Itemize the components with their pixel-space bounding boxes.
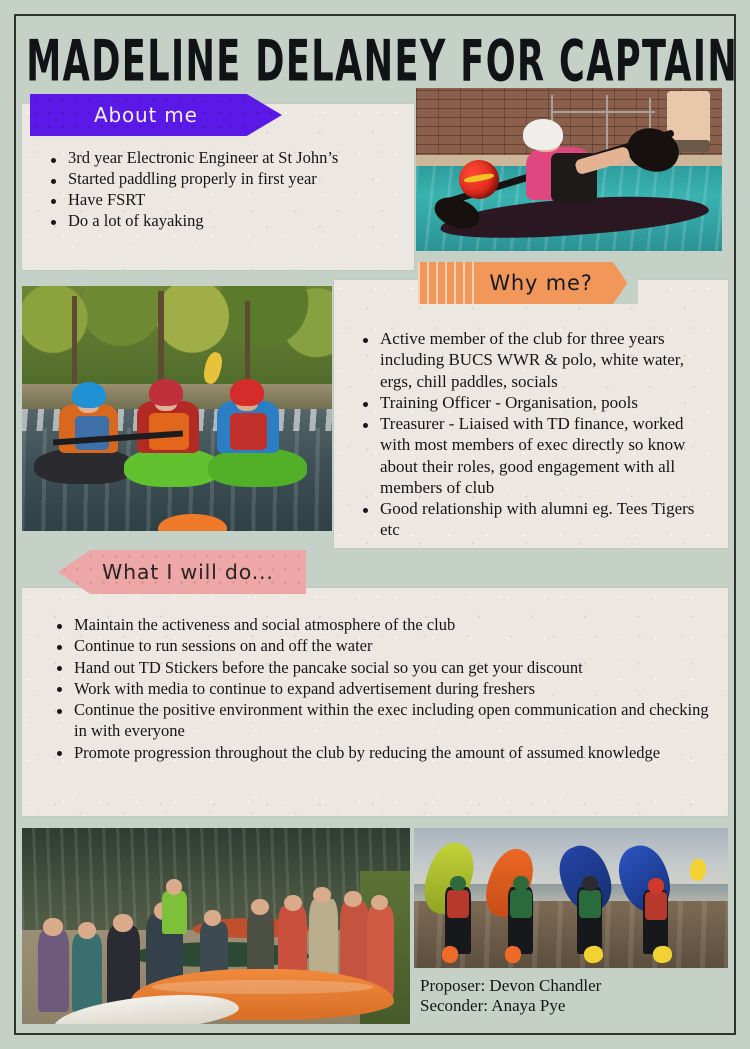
- club-member-head: [166, 879, 182, 895]
- blue-helmet: [72, 382, 106, 409]
- list-item: Started paddling properly in first year: [46, 169, 400, 190]
- club-member: [38, 930, 69, 1012]
- beach-kayakers-photo: [414, 828, 728, 968]
- river-kayakers-photo: [22, 286, 332, 531]
- club-member-head: [113, 914, 132, 932]
- club-member-head: [78, 922, 96, 939]
- paddler-buoyancy-aid: [75, 416, 109, 450]
- list-item: Work with media to continue to expand ad…: [52, 678, 712, 699]
- list-item: Do a lot of kayaking: [46, 211, 400, 232]
- club-member-head: [344, 891, 362, 907]
- club-member-head: [284, 895, 302, 911]
- paddler-buoyancy-aid: [579, 890, 601, 918]
- what-i-will-do-banner: What I will do...: [58, 550, 306, 594]
- list-item: Treasurer - Liaised with TD finance, wor…: [358, 413, 718, 498]
- why-me-card: Active member of the club for three year…: [334, 280, 728, 548]
- seconder-line: Seconder: Anaya Pye: [420, 996, 720, 1016]
- pool-railing: [551, 111, 655, 113]
- about-me-banner-label: About me: [94, 103, 198, 127]
- paddler-head: [450, 876, 466, 891]
- list-item: Continue to run sessions on and off the …: [52, 635, 712, 656]
- paddler-head: [648, 878, 664, 893]
- paddler-buoyancy-aid: [447, 890, 469, 918]
- polo-ball: [459, 160, 499, 199]
- list-item: Have FSRT: [46, 190, 400, 211]
- why-me-banner-label: Why me?: [489, 271, 592, 295]
- list-item: 3rd year Electronic Engineer at St John’…: [46, 148, 400, 169]
- about-me-bullet-list: 3rd year Electronic Engineer at St John’…: [46, 148, 400, 232]
- club-group-photo: [22, 828, 410, 1024]
- list-item: Good relationship with alumni eg. Tees T…: [358, 498, 718, 541]
- kayak-dark: [34, 448, 133, 485]
- what-i-will-do-card: Maintain the activeness and social atmos…: [22, 588, 728, 816]
- paddler-head: [513, 876, 529, 891]
- club-member: [72, 934, 101, 1012]
- banner-notch: [613, 262, 639, 304]
- red-helmet: [230, 379, 264, 406]
- list-item: Training Officer - Organisation, pools: [358, 392, 718, 413]
- about-me-banner: About me: [30, 94, 282, 136]
- paddler-head: [582, 876, 598, 891]
- club-member-head: [313, 887, 331, 903]
- list-item: Continue the positive environment within…: [52, 699, 712, 742]
- club-member-head: [43, 918, 62, 936]
- kayak-polo-photo: [416, 88, 722, 251]
- pool-railing: [606, 95, 608, 157]
- proposer-line: Proposer: Devon Chandler: [420, 976, 720, 996]
- why-me-banner: Why me?: [418, 262, 638, 304]
- why-me-bullet-list: Active member of the club for three year…: [358, 328, 718, 541]
- club-member-head: [251, 899, 269, 915]
- banner-stripe-pattern: [418, 262, 480, 304]
- list-item: Active member of the club for three year…: [358, 328, 718, 392]
- page-title: MADELINE DELANEY FOR CAPTAIN: [26, 28, 724, 94]
- kayak-green: [124, 448, 220, 487]
- list-item: Maintain the activeness and social atmos…: [52, 614, 712, 635]
- poster-canvas: MADELINE DELANEY FOR CAPTAIN 3rd year El…: [0, 0, 750, 1049]
- paddler-buoyancy-aid: [510, 890, 532, 918]
- tree-trunk: [72, 296, 77, 394]
- autumn-trees: [22, 286, 332, 394]
- club-member: [162, 891, 187, 934]
- list-item: Hand out TD Stickers before the pancake …: [52, 657, 712, 678]
- what-i-will-do-bullet-list: Maintain the activeness and social atmos…: [52, 614, 712, 763]
- paddler-buoyancy-aid: [645, 892, 667, 920]
- kayak-green: [208, 448, 307, 487]
- list-item: Promote progression throughout the club …: [52, 742, 712, 763]
- player-helmet: [523, 119, 563, 150]
- red-helmet: [149, 379, 183, 406]
- paddler-buoyancy-aid: [230, 413, 267, 450]
- footer-credits: Proposer: Devon Chandler Seconder: Anaya…: [420, 976, 720, 1017]
- what-i-will-do-banner-label: What I will do...: [102, 560, 274, 584]
